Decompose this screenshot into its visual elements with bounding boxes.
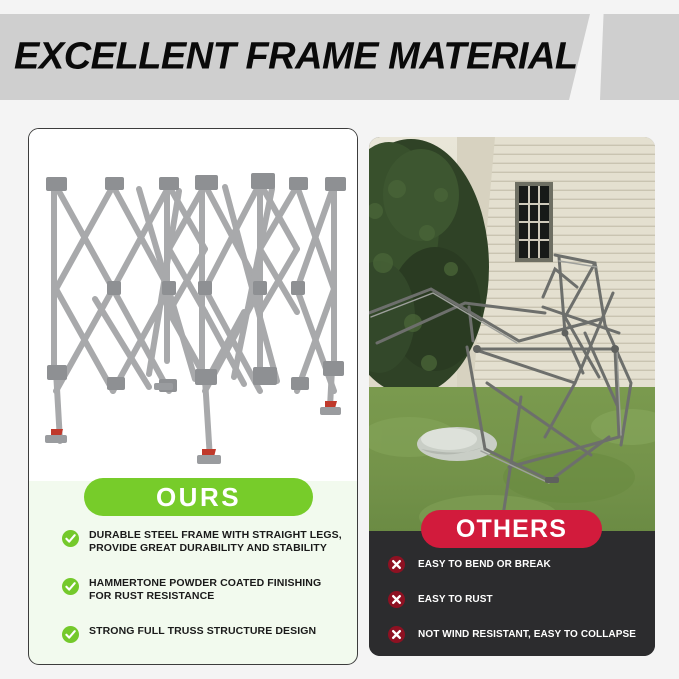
ours-feature-text: DURABLE STEEL FRAME WITH STRAIGHT LEGS, … [89, 529, 342, 555]
list-item: EASY TO BEND OR BREAK [388, 556, 640, 573]
ours-badge: OURS [84, 478, 313, 516]
ours-card: OURS DURABLE STEEL FRAME WITH STRAIGHT L… [28, 128, 358, 665]
list-item: NOT WIND RESISTANT, EASY TO COLLAPSE [388, 626, 640, 643]
ours-feature-line: DURABLE STEEL FRAME WITH STRAIGHT LEGS, [89, 529, 342, 541]
ours-feature-list: DURABLE STEEL FRAME WITH STRAIGHT LEGS, … [62, 529, 352, 643]
others-drawback-list: EASY TO BEND OR BREAK EASY TO RUST [388, 556, 640, 643]
others-card: EASY TO BEND OR BREAK EASY TO RUST [369, 137, 655, 656]
list-item: HAMMERTONE POWDER COATED FINISHING FOR R… [62, 577, 352, 603]
others-drawback-panel: EASY TO BEND OR BREAK EASY TO RUST [369, 531, 655, 656]
list-item: DURABLE STEEL FRAME WITH STRAIGHT LEGS, … [62, 529, 352, 555]
ours-feature-line: HAMMERTONE POWDER COATED FINISHING [89, 577, 321, 589]
x-circle-icon [388, 556, 405, 573]
page-header: EXCELLENT FRAME MATERIAL [0, 14, 679, 100]
ours-feature-text: STRONG FULL TRUSS STRUCTURE DESIGN [89, 625, 316, 638]
others-badge: OTHERS [421, 510, 602, 548]
others-product-photo [369, 137, 655, 531]
ours-product-photo [29, 129, 357, 481]
ours-feature-line: FOR RUST RESISTANCE [89, 590, 214, 602]
header-banner-accent [600, 14, 679, 100]
others-drawback-text: EASY TO BEND OR BREAK [418, 559, 551, 571]
ours-feature-line: PROVIDE GREAT DURABILITY AND STABILITY [89, 542, 327, 554]
others-drawback-text: EASY TO RUST [418, 594, 493, 606]
check-circle-icon [62, 530, 79, 547]
list-item: EASY TO RUST [388, 591, 640, 608]
x-circle-icon [388, 626, 405, 643]
ours-badge-label: OURS [156, 482, 241, 513]
page-title: EXCELLENT FRAME MATERIAL [14, 36, 578, 79]
x-circle-icon [388, 591, 405, 608]
check-circle-icon [62, 578, 79, 595]
others-badge-label: OTHERS [456, 515, 567, 544]
list-item: STRONG FULL TRUSS STRUCTURE DESIGN [62, 625, 352, 643]
comparison-cards: OURS DURABLE STEEL FRAME WITH STRAIGHT L… [0, 128, 679, 668]
ours-feature-text: HAMMERTONE POWDER COATED FINISHING FOR R… [89, 577, 321, 603]
check-circle-icon [62, 626, 79, 643]
others-drawback-text: NOT WIND RESISTANT, EASY TO COLLAPSE [418, 629, 636, 641]
